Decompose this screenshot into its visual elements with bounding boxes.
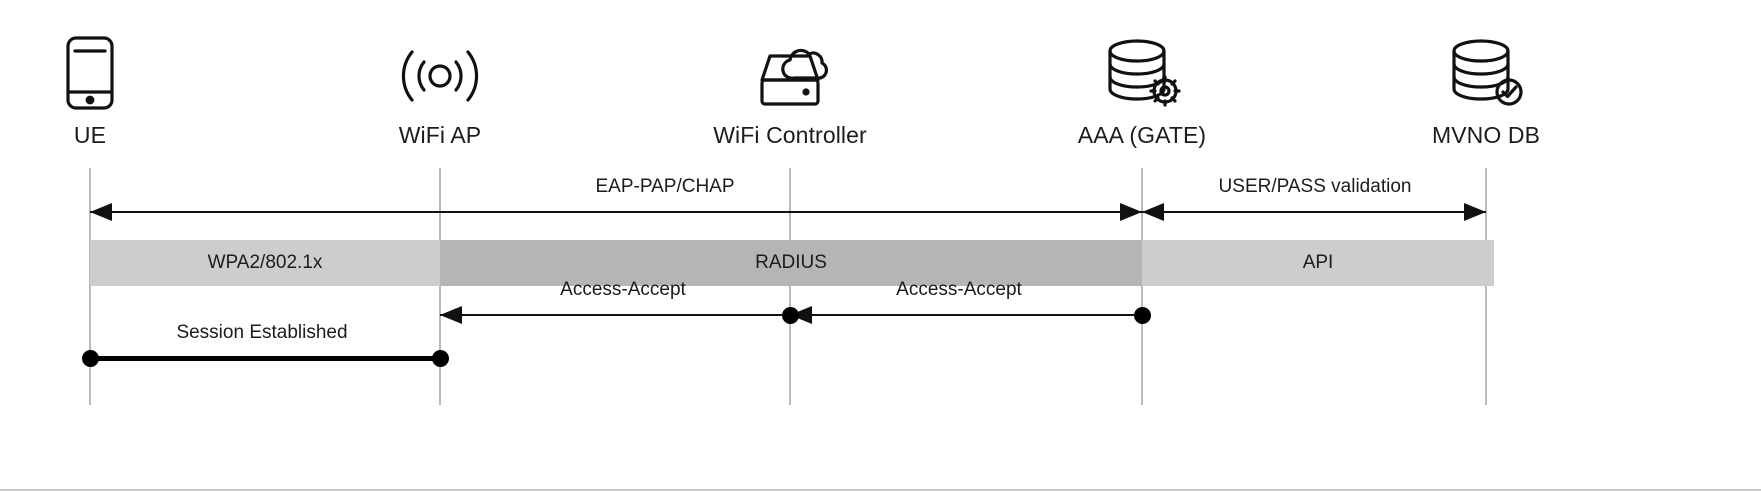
smartphone-icon	[0, 36, 220, 112]
flow-label-user-pass-validation: USER/PASS validation	[1219, 176, 1412, 198]
lifeline-wifi-ap	[439, 168, 441, 405]
flow-line-access-accept-ctrl-to-ap	[440, 314, 790, 316]
flow-label-session-established: Session Established	[176, 322, 347, 344]
flow-line-eap-pap-chap	[90, 211, 1142, 213]
flow-arrowhead-end-eap-pap-chap	[1120, 203, 1142, 221]
protocol-band-label-wpa2: WPA2/802.1x	[208, 252, 323, 274]
flow-endpoint-start-session-established	[82, 350, 99, 367]
lifeline-wifi-ctrl	[789, 168, 791, 405]
protocol-band-label-api: API	[1303, 252, 1334, 274]
flow-arrowhead-start-eap-pap-chap	[90, 203, 112, 221]
database-gear-icon	[1012, 36, 1272, 112]
actor-label-wifi-ctrl: WiFi Controller	[660, 122, 920, 149]
sequence-diagram-canvas: WPA2/802.1xRADIUSAPI EAP-PAP/CHAPUSER/PA…	[0, 0, 1761, 491]
flow-endpoint-end-access-accept-aaa-to-ctrl	[1134, 307, 1151, 324]
flow-label-access-accept-aaa-to-ctrl: Access-Accept	[896, 279, 1022, 301]
flow-line-access-accept-aaa-to-ctrl	[790, 314, 1142, 316]
database-check-icon	[1356, 36, 1616, 112]
flow-label-access-accept-ctrl-to-ap: Access-Accept	[560, 279, 686, 301]
flow-arrowhead-end-user-pass-validation	[1464, 203, 1486, 221]
actor-wifi-ap: WiFi AP	[310, 36, 570, 149]
actor-ue: UE	[0, 36, 220, 149]
flow-line-user-pass-validation	[1142, 211, 1486, 213]
flow-arrowhead-start-access-accept-ctrl-to-ap	[440, 306, 462, 324]
actor-wifi-ctrl: WiFi Controller	[660, 36, 920, 149]
protocol-band-radius: RADIUS	[440, 240, 1142, 286]
flow-label-eap-pap-chap: EAP-PAP/CHAP	[595, 176, 734, 198]
actor-label-ue: UE	[0, 122, 220, 149]
protocol-band-wpa2: WPA2/802.1x	[90, 240, 440, 286]
wifi-access-point-icon	[310, 36, 570, 112]
flow-arrowhead-start-user-pass-validation	[1142, 203, 1164, 221]
actor-label-wifi-ap: WiFi AP	[310, 122, 570, 149]
actor-label-aaa-gate: AAA (GATE)	[1012, 122, 1272, 149]
protocol-band-api: API	[1142, 240, 1494, 286]
flow-line-session-established	[90, 356, 440, 361]
actor-aaa-gate: AAA (GATE)	[1012, 36, 1272, 149]
flow-endpoint-end-session-established	[432, 350, 449, 367]
actor-label-mvno-db: MVNO DB	[1356, 122, 1616, 149]
protocol-band-label-radius: RADIUS	[755, 252, 827, 274]
cloud-server-icon	[660, 36, 920, 112]
actor-mvno-db: MVNO DB	[1356, 36, 1616, 149]
flow-endpoint-end-access-accept-ctrl-to-ap	[782, 307, 799, 324]
